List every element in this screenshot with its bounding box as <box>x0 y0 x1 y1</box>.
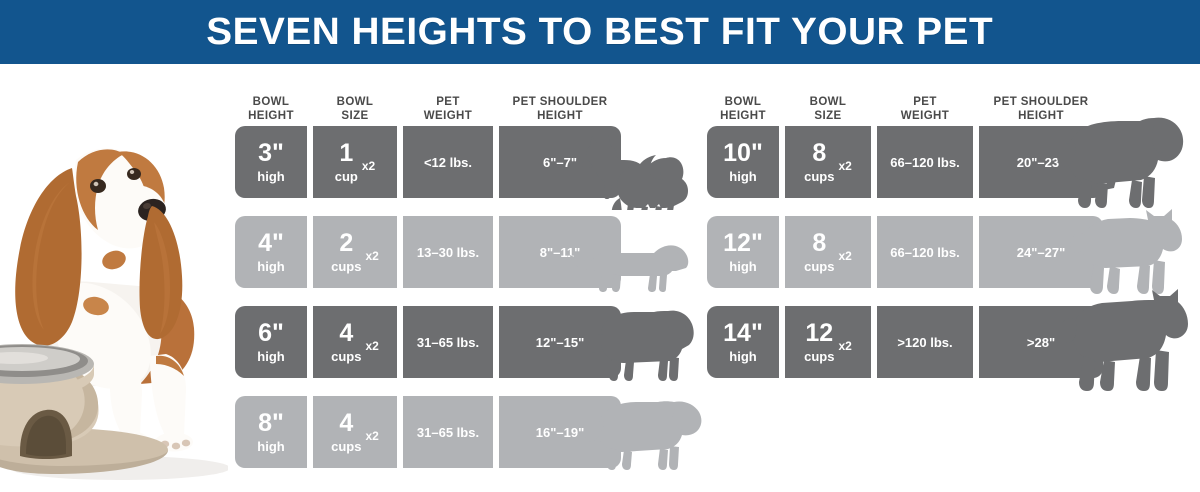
cell-bowl-size: 8 cups x2 <box>785 216 871 288</box>
cell-pet-weight: <12 lbs. <box>403 126 493 198</box>
bowl-height-unit: high <box>257 350 284 363</box>
bowl-size-value: 1 <box>335 141 358 166</box>
great-dane-silhouette-icon <box>1062 288 1190 392</box>
bowl-size-value: 4 <box>331 321 361 346</box>
pet-weight-value: 13–30 lbs. <box>417 245 479 260</box>
bowl-height-value: 4" <box>257 231 284 256</box>
pet-weight-value: 31–65 lbs. <box>417 425 479 440</box>
right-table-header-row: BOWL HEIGHT BOWL SIZE PET WEIGHT PET SHO… <box>707 88 1109 126</box>
bowl-size-multiplier: x2 <box>362 151 375 173</box>
cell-bowl-height: 3" high <box>235 126 307 198</box>
pet-weight-value: <12 lbs. <box>424 155 472 170</box>
bowl-size-value: 8 <box>804 141 834 166</box>
bowl-size-unit: cups <box>331 440 361 453</box>
table-row[interactable]: 6" high 4 cups x2 31–65 lbs. 12"–15" <box>235 306 627 378</box>
left-table-header-row: BOWL HEIGHT BOWL SIZE PET WEIGHT PET SHO… <box>235 88 627 126</box>
column-header-bowl-size: BOWL SIZE <box>785 96 871 126</box>
bowl-height-value: 10" <box>723 141 763 166</box>
cell-bowl-size: 12 cups x2 <box>785 306 871 378</box>
cell-bowl-height: 10" high <box>707 126 779 198</box>
bowl-height-value: 12" <box>723 231 763 256</box>
retriever-silhouette-icon <box>580 396 706 472</box>
pet-shoulder-height-value: 12"–15" <box>536 335 584 350</box>
table-row[interactable]: 10" high 8 cups x2 66–120 lbs. 20"–23" <box>707 126 1109 198</box>
pet-shoulder-height-value: >28" <box>1027 335 1055 350</box>
pet-shoulder-height-value: 24"–27" <box>1017 245 1065 260</box>
infographic-root: SEVEN HEIGHTS TO BEST FIT YOUR PET <box>0 0 1200 492</box>
column-header-line1: PET SHOULDER <box>499 96 621 110</box>
column-header-line1: BOWL <box>313 96 397 110</box>
page-title: SEVEN HEIGHTS TO BEST FIT YOUR PET <box>207 11 994 54</box>
cell-bowl-height: 8" high <box>235 396 307 468</box>
bowl-height-unit: high <box>257 260 284 273</box>
bowl-height-value: 14" <box>723 321 763 346</box>
bowl-size-unit: cups <box>331 350 361 363</box>
table-row[interactable]: 8" high 4 cups x2 31–65 lbs. 16"–19" <box>235 396 627 468</box>
column-header-line2: HEIGHT <box>235 110 307 124</box>
cell-pet-weight: 31–65 lbs. <box>403 306 493 378</box>
bowl-size-multiplier: x2 <box>365 331 378 353</box>
bowl-size-unit: cups <box>804 170 834 183</box>
column-header-line2: HEIGHT <box>707 110 779 124</box>
hero-photo <box>0 64 228 492</box>
cell-bowl-size: 4 cups x2 <box>313 396 397 468</box>
bowl-size-unit: cups <box>331 260 361 273</box>
golden-retriever-silhouette-icon <box>1056 114 1186 210</box>
pet-weight-value: >120 lbs. <box>897 335 952 350</box>
column-header-line2: HEIGHT <box>499 110 621 124</box>
column-header-line1: PET SHOULDER <box>979 96 1103 110</box>
bowl-size-multiplier: x2 <box>838 241 851 263</box>
bowl-height-unit: high <box>723 170 763 183</box>
cell-bowl-size: 8 cups x2 <box>785 126 871 198</box>
bowl-size-unit: cup <box>335 170 358 183</box>
pet-weight-value: 66–120 lbs. <box>890 155 959 170</box>
cell-pet-weight: 66–120 lbs. <box>877 216 973 288</box>
column-header-line1: PET <box>877 96 973 110</box>
bowl-height-value: 8" <box>257 411 284 436</box>
table-row[interactable]: 14" high 12 cups x2 >120 lbs. >28" <box>707 306 1109 378</box>
column-header-pet-weight: PET WEIGHT <box>877 96 973 126</box>
bowl-height-value: 3" <box>257 141 284 166</box>
column-header-line2: SIZE <box>785 110 871 124</box>
bowl-size-multiplier: x2 <box>365 421 378 443</box>
bowl-size-unit: cups <box>804 260 834 273</box>
cell-bowl-size: 1 cup x2 <box>313 126 397 198</box>
column-header-line2: SIZE <box>313 110 397 124</box>
pet-shoulder-height-value: 16"–19" <box>536 425 584 440</box>
cell-bowl-size: 4 cups x2 <box>313 306 397 378</box>
column-header-bowl-height: BOWL HEIGHT <box>707 96 779 126</box>
column-header-bowl-size: BOWL SIZE <box>313 96 397 126</box>
bowl-size-multiplier: x2 <box>365 241 378 263</box>
cell-bowl-height: 4" high <box>235 216 307 288</box>
boxer-silhouette-icon <box>1070 206 1186 296</box>
bowl-size-value: 2 <box>331 231 361 256</box>
table-row[interactable]: 12" high 8 cups x2 66–120 lbs. 24"–27" <box>707 216 1109 288</box>
bowl-size-multiplier: x2 <box>838 331 851 353</box>
column-header-bowl-height: BOWL HEIGHT <box>235 96 307 126</box>
australian-shepherd-silhouette-icon <box>582 305 698 383</box>
title-bar: SEVEN HEIGHTS TO BEST FIT YOUR PET <box>0 0 1200 64</box>
bowl-size-multiplier: x2 <box>838 151 851 173</box>
bowl-height-unit: high <box>257 170 284 183</box>
cell-pet-weight: 31–65 lbs. <box>403 396 493 468</box>
bowl-height-unit: high <box>723 260 763 273</box>
bowl-size-value: 8 <box>804 231 834 256</box>
cell-pet-weight: >120 lbs. <box>877 306 973 378</box>
cat-and-yorkie-silhouette-icon <box>568 122 696 210</box>
column-header-line1: BOWL <box>707 96 779 110</box>
cell-bowl-height: 12" high <box>707 216 779 288</box>
bowl-size-value: 4 <box>331 411 361 436</box>
column-header-line1: PET <box>403 96 493 110</box>
bowl-size-value: 12 <box>804 321 834 346</box>
column-header-line2: WEIGHT <box>877 110 973 124</box>
dachshund-silhouette-icon <box>566 238 692 294</box>
cell-bowl-size: 2 cups x2 <box>313 216 397 288</box>
column-header-pet-weight: PET WEIGHT <box>403 96 493 126</box>
pet-weight-value: 66–120 lbs. <box>890 245 959 260</box>
cell-bowl-height: 6" high <box>235 306 307 378</box>
basset-hound-illustration <box>0 64 228 492</box>
cell-bowl-height: 14" high <box>707 306 779 378</box>
pet-weight-value: 31–65 lbs. <box>417 335 479 350</box>
column-header-line1: BOWL <box>785 96 871 110</box>
right-table: BOWL HEIGHT BOWL SIZE PET WEIGHT PET SHO… <box>707 88 1109 396</box>
bowl-height-unit: high <box>257 440 284 453</box>
bowl-size-unit: cups <box>804 350 834 363</box>
bowl-height-value: 6" <box>257 321 284 346</box>
cell-pet-weight: 66–120 lbs. <box>877 126 973 198</box>
bowl-height-unit: high <box>723 350 763 363</box>
column-header-line1: BOWL <box>235 96 307 110</box>
cell-pet-weight: 13–30 lbs. <box>403 216 493 288</box>
column-header-line2: WEIGHT <box>403 110 493 124</box>
